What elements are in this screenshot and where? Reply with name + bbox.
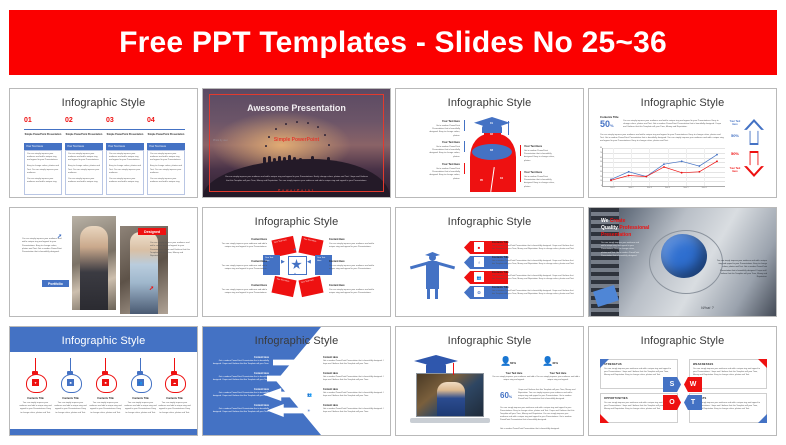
left-paragraph: You can simply impress your audience and…: [601, 242, 641, 258]
column-subhead: Simple PowerPoint Presentation: [24, 133, 62, 137]
column-body: You can simply impress your audience and…: [106, 150, 144, 195]
paragraph-1: I hope and I believe that this Template …: [518, 389, 576, 401]
content-item-1: Contents TitleYou can simply impress you…: [19, 397, 52, 415]
square-icon: ■: [474, 242, 484, 252]
corner-accent: [600, 414, 609, 423]
column-body: You can simply impress your audience and…: [147, 150, 185, 195]
arrow-up-value: 50%: [727, 133, 743, 138]
accent-bar: [464, 120, 465, 131]
slide-thumbnail-5[interactable]: You can simply impress your audience and…: [9, 207, 198, 317]
y-tick: 70: [600, 152, 602, 154]
slide-title: Infographic Style: [396, 335, 583, 347]
right-item-4: Content HereGet a modern PowerPoint Pres…: [323, 404, 385, 415]
y-tick: 50: [600, 161, 602, 163]
headline: We Create Quality Professional Presentat…: [601, 218, 649, 238]
slide-thumbnail-7[interactable]: Infographic Style ■ f 👥 ❂ Contents Title…: [395, 207, 584, 317]
people-icon: 👥: [474, 272, 484, 282]
callout-left-3: Your Text HereGet a modern PowerPoint Pr…: [424, 163, 460, 181]
content-item-4: Contents TitleGet a modern PowerPoint Pr…: [492, 286, 576, 296]
left-item-1: Content HereGet a modern PowerPoint Pres…: [211, 356, 269, 367]
right-item-2: Content HereGet a modern PowerPoint Pres…: [323, 372, 385, 383]
globe-icon: ☀: [307, 408, 311, 413]
accent-bar: [464, 141, 465, 152]
accent-bar: [520, 171, 521, 182]
marker-05: 05: [480, 179, 483, 182]
photo-woman: [72, 216, 116, 310]
x-tick: Item 6: [702, 187, 707, 189]
corner-accent: [600, 359, 609, 368]
slide-title: Infographic Style: [396, 97, 583, 109]
chart-series: [603, 148, 725, 186]
laptop-mockup: [410, 373, 490, 423]
right-item-1: Content HereGet a modern PowerPoint Pres…: [323, 356, 385, 367]
big-percentage: 60%: [500, 391, 512, 400]
corner-accent: [758, 359, 767, 368]
swot-letter-t: T: [684, 395, 702, 410]
column-header: Your Text Here: [147, 143, 185, 150]
people-icon: 👥: [137, 379, 144, 386]
x-tick: Item 2: [629, 187, 634, 189]
slide-thumbnail-9[interactable]: Infographic Style ♥ ■ ■ 👥 ☁ Contents Tit…: [9, 326, 198, 436]
grid-icon: ■: [102, 379, 109, 386]
right-item-3: Content HereGet a modern PowerPoint Pres…: [323, 388, 385, 399]
marker-03: 03: [490, 149, 493, 152]
photo-man: [120, 226, 168, 314]
marker-04: 04: [500, 177, 503, 180]
marker-02: 02: [490, 133, 493, 136]
heart-icon: ♥: [32, 379, 39, 386]
designed-text: You can simply impress your audience and…: [150, 242, 190, 259]
slide-title: Infographic Style: [396, 216, 583, 228]
arrow-up-icon: ▲: [293, 272, 297, 276]
y-tick: 40: [600, 166, 602, 168]
chat-icon: ●: [275, 360, 277, 365]
x-tick: Item 1: [610, 187, 615, 189]
hand-icon: ●: [271, 376, 273, 381]
step-number-04: 04: [147, 117, 155, 124]
x-tick: Item 5: [683, 187, 688, 189]
slide-thumbnail-1[interactable]: Infographic Style 01 02 03 04 Simple Pow…: [9, 88, 198, 198]
content-item-3: Content HereYou can simply impress your …: [219, 284, 267, 295]
chart-icon: ■: [67, 379, 74, 386]
portfolio-tag: Portfolio: [42, 280, 69, 287]
content-item-1: Content HereYou can simply impress your …: [219, 238, 267, 249]
column-header: Your Text Here: [106, 143, 144, 150]
column-body: You can simply impress your audience and…: [24, 150, 62, 195]
paragraph-2: You can simply impress your audience and…: [500, 407, 576, 422]
slide-title: Infographic Style: [203, 335, 390, 347]
cover-paragraph: You can simply impress your audience and…: [225, 176, 368, 183]
y-tick: 30: [600, 171, 602, 173]
content-item-1: Contents TitleGet a modern PowerPoint Pr…: [492, 241, 576, 251]
puzzle-piece-4: Your Text Here: [298, 276, 323, 297]
big-percentage: 50%: [600, 119, 614, 129]
stat-caption-1: Your Text HereYou can simply impress you…: [492, 372, 536, 383]
line-chart: 80 70 60 50 40 30 20 10 0 Item 1 Item 2 …: [602, 148, 725, 187]
x-tick: Item 3: [647, 187, 652, 189]
graduation-cap-band: [426, 364, 446, 373]
designed-tag: Designed: [138, 228, 166, 235]
left-item-2: Content HereGet a modern PowerPoint Pres…: [211, 372, 269, 383]
step-number-02: 02: [65, 117, 73, 124]
y-tick: 10: [600, 180, 602, 182]
content-item-6: Content HereYou can simply impress your …: [329, 284, 377, 295]
y-tick: 20: [600, 176, 602, 178]
slide-title: Infographic Style: [589, 97, 776, 109]
arrow-up-right-icon: ➚: [149, 286, 154, 292]
slide-grid: Infographic Style 01 02 03 04 Simple Pow…: [9, 88, 777, 436]
cover-footer: PowerPoint: [203, 188, 390, 192]
cloud-icon: ☁: [171, 379, 178, 386]
content-item-5: Contents TitleYou can simply impress you…: [158, 397, 191, 415]
banner-title: Free PPT Templates - Slides No 25~36: [119, 26, 667, 60]
puzzle-piece-2: Your Text Here: [298, 236, 323, 257]
divider-line: [24, 129, 185, 130]
slide-title: Infographic Style: [10, 97, 197, 109]
content-item-3: Contents TitleYou can simply impress you…: [89, 397, 122, 415]
slide-thumbnail-4[interactable]: Infographic Style Contents Title 50% You…: [588, 88, 777, 198]
column-subhead: Simple PowerPoint Presentation: [65, 133, 103, 137]
swot-letter-o: O: [663, 395, 681, 410]
cover-title: Awesome Presentation: [203, 103, 390, 113]
x-tick: Item 4: [665, 187, 670, 189]
left-item-3: Content HereGet a modern PowerPoint Pres…: [211, 388, 269, 399]
stat-caption-2: Your Text HereYou can simply impress you…: [536, 372, 580, 383]
slide-thumbnail-12[interactable]: Infographic Style STRENGTHSYou can simpl…: [588, 326, 777, 436]
stat-value-2: 40%: [552, 361, 558, 365]
accent-bar: [520, 145, 521, 156]
step-number-03: 03: [106, 117, 114, 124]
column-subhead: Simple PowerPoint Presentation: [147, 133, 185, 137]
arrow-left-icon: ◀: [307, 260, 311, 265]
corner-accent: [758, 414, 767, 423]
y-tick: 0: [601, 185, 602, 187]
footer-bar: [10, 429, 197, 435]
slide-title: Infographic Style: [589, 335, 776, 347]
arrow-right-icon: ▶: [281, 260, 285, 265]
step-number-01: 01: [24, 117, 32, 124]
right-paragraph: You can simply impress your audience and…: [715, 260, 767, 279]
callout-right-1: Your Text HereGet a modern PowerPoint Pr…: [524, 145, 560, 163]
content-item-4: Content HereYou can simply impress your …: [329, 238, 377, 249]
people-icon: 👥: [307, 392, 312, 397]
tassel: [453, 363, 454, 375]
marker-01: 01: [490, 122, 493, 125]
column-subhead: Simple PowerPoint Presentation: [106, 133, 144, 137]
slide-thumbnail-6[interactable]: Infographic Style Your Text Here Your Te…: [202, 207, 391, 317]
arrow-down-icon: ▼: [293, 248, 297, 252]
swot-letter-w: W: [684, 377, 702, 392]
portfolio-text: You can simply impress your audience and…: [22, 238, 62, 255]
y-tick: 60: [600, 157, 602, 159]
slide-thumbnail-8[interactable]: We Create Quality Professional Presentat…: [588, 207, 777, 317]
paragraph-2: You can simply impress your audience and…: [600, 134, 725, 144]
slide-thumbnail-11[interactable]: Infographic Style 👤 👤 60% 40% Your Text …: [395, 326, 584, 436]
slide-title: Infographic Style: [10, 335, 197, 347]
callout-right-2: Your Text HereGet a modern PowerPoint Pr…: [524, 171, 560, 189]
arrow-down-label: Your Text Here: [727, 167, 743, 173]
footer-text: Get a modern PowerPoint Presentation tha…: [500, 428, 576, 431]
column-header: Your Text Here: [65, 143, 103, 150]
arrow-up-right-icon: ➚: [57, 234, 62, 240]
template-preview-page: Free PPT Templates - Slides No 25~36 Inf…: [0, 0, 786, 445]
slide-title: Infographic Style: [203, 216, 390, 228]
callout-left-1: Your Text HereGet a modern PowerPoint Pr…: [424, 120, 460, 138]
column-body: You can simply impress your audience and…: [65, 150, 103, 195]
arrow-up-label: Your Text Here: [727, 120, 743, 126]
swot-letter-s: S: [663, 377, 681, 392]
puzzle-piece-3: Your Text Here: [271, 276, 296, 297]
left-item-4: Content HereGet a modern PowerPoint Pres…: [211, 404, 269, 415]
slide-thumbnail-10[interactable]: Infographic Style ● ● 👥 ☀ Content HereGe…: [202, 326, 391, 436]
content-item-3: Contents TitleGet a modern PowerPoint Pr…: [492, 271, 576, 281]
header-banner: Free PPT Templates - Slides No 25~36: [9, 10, 777, 75]
graduate-figure: [410, 254, 456, 300]
column-header: Your Text Here: [24, 143, 62, 150]
gear-icon: ❂: [474, 287, 484, 297]
handwriting-signature: What ?: [701, 305, 714, 310]
callout-left-2: Your Text HereGet a modern PowerPoint Pr…: [424, 141, 460, 159]
content-item-4: Contents TitleYou can simply impress you…: [124, 397, 157, 415]
content-item-2: Content HereYou can simply impress your …: [219, 260, 267, 271]
content-item-5: Content HereYou can simply impress your …: [329, 260, 377, 271]
arrow-down-value: 50%: [727, 151, 743, 156]
slide-thumbnail-3[interactable]: Infographic Style 01 02 03 04 05 Your Te…: [395, 88, 584, 198]
facebook-icon: f: [474, 257, 484, 267]
content-item-2: Contents TitleYou can simply impress you…: [54, 397, 87, 415]
paragraph-1: You can simply impress your audience and…: [623, 120, 725, 130]
crumpled-paper-ball: [661, 234, 707, 278]
stat-value-1: 60%: [510, 361, 516, 365]
content-item-2: Contents TitleGet a modern PowerPoint Pr…: [492, 256, 576, 266]
slide-thumbnail-2[interactable]: Photo by user: [202, 88, 391, 198]
accent-bar: [464, 163, 465, 174]
y-tick: 80: [600, 147, 602, 149]
cover-subtitle: Simple PowerPoint: [203, 137, 390, 143]
